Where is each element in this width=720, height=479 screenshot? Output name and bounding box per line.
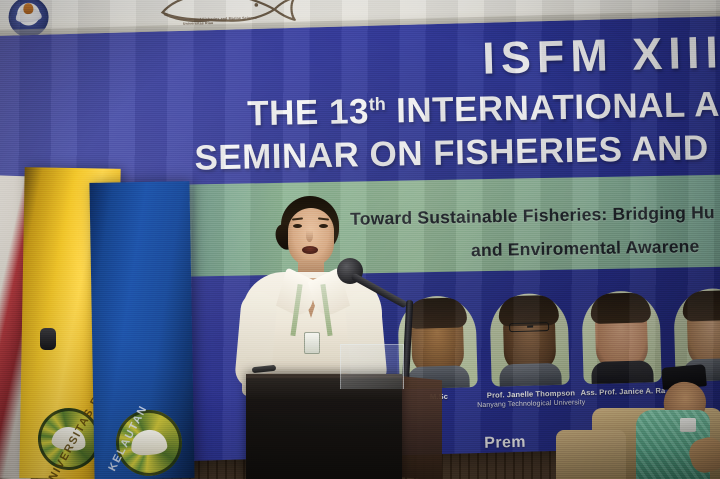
speaker-eye-left [293,224,302,228]
seal-crest-shape [23,3,33,14]
speaker-nose [306,230,313,242]
seated-man-right [636,366,720,479]
flag-blue-kelautan: KELAUTAN UNIVERSITAS [89,181,194,479]
title-line1-a: THE 13 [247,92,369,133]
podium [246,374,402,479]
podium-side-panel [398,376,442,479]
banner-bottom-text: Prem [484,434,526,453]
photo-scene: ISFM XIII Faculty of Fisheries and Marin… [0,0,720,479]
portrait-hair [682,290,720,322]
portrait-hair [590,292,651,324]
banner-title-line2: SEMINAR ON FISHERIES AND MA [194,127,720,179]
speaker-mouth [302,246,318,254]
banner-portrait-2: Prof. Janelle Thompson Nanyang Technolog… [489,293,569,387]
seated-man-name-badge [680,418,696,432]
chair-right-2 [556,430,626,479]
microphone-secondary [40,328,56,350]
speaker-eye-right [319,224,328,228]
title-line1-b: INTERNATIONAL AND [386,84,720,131]
portrait-2-affiliation: Nanyang Technological University [466,398,596,412]
portrait-glasses-icon [509,322,549,332]
lectern-acrylic-shield [340,344,404,389]
title-line1-sup: th [369,94,386,114]
banner-acronym: ISFM XIII [482,26,720,85]
banner-subtitle-line2: and Enviromental Awarene [471,236,700,261]
portrait-torso [499,363,562,387]
university-seal-green-icon [57,35,98,36]
banner-title-line1: THE 13th INTERNATIONAL AND [247,84,720,135]
id-badge [304,332,320,354]
portrait-hair [406,297,467,329]
